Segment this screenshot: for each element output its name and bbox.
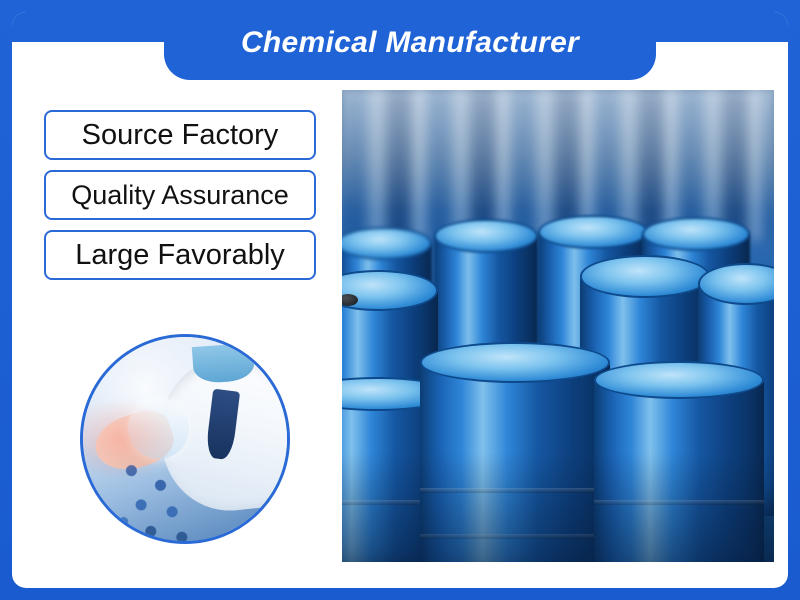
feature-item-source-factory: Source Factory [44, 110, 316, 160]
promotional-banner: Chemical Manufacturer Source Factory Qua… [0, 0, 800, 600]
warm-glow-overlay [80, 398, 175, 480]
lab-photo-image [83, 337, 287, 541]
drum-lid [420, 342, 610, 383]
drum-lid [580, 255, 710, 297]
feature-item-large-favorably: Large Favorably [44, 230, 316, 280]
drum-lid [642, 217, 750, 251]
feature-list: Source Factory Quality Assurance Large F… [44, 110, 316, 290]
photo-bottom-shadow [342, 452, 774, 562]
lab-photo-circle [80, 334, 290, 544]
page-title: Chemical Manufacturer [164, 12, 656, 74]
drum-lid [538, 215, 648, 249]
photo-top-haze [342, 90, 774, 210]
drum-lid [594, 361, 764, 400]
banner-inner-card: Chemical Manufacturer Source Factory Qua… [12, 12, 788, 588]
left-column: Source Factory Quality Assurance Large F… [34, 110, 324, 570]
feature-item-quality-assurance: Quality Assurance [44, 170, 316, 220]
drum-lid [434, 219, 538, 253]
chemical-drums-photo [342, 90, 774, 562]
banner-header: Chemical Manufacturer [12, 12, 788, 84]
